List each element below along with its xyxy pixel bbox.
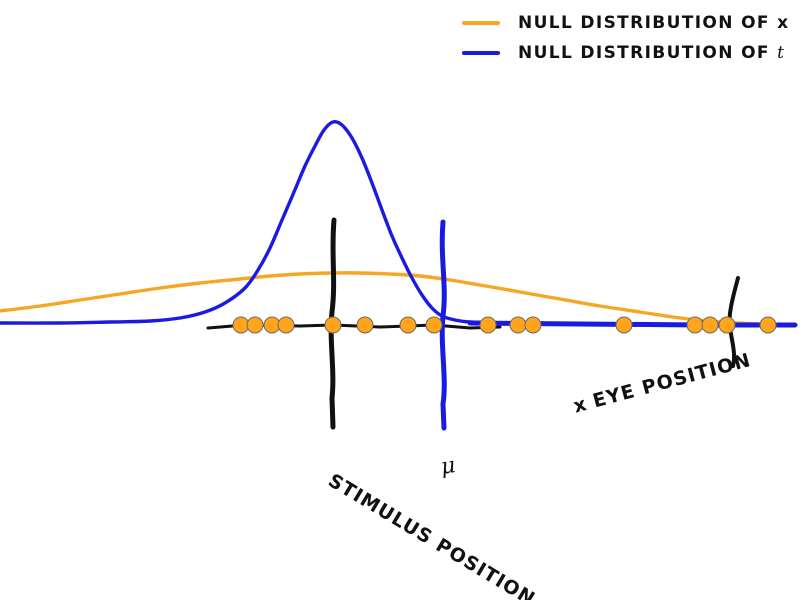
legend-item-null-distribution-t: NULL DISTRIBUTION OF t	[462, 38, 798, 68]
data-point	[616, 317, 632, 333]
legend-item-null-distribution-x: NULL DISTRIBUTION OF x	[462, 8, 798, 38]
legend-symbol-x: x	[777, 13, 788, 33]
mu-tick	[442, 222, 444, 428]
null-distribution-x-curve	[0, 273, 795, 325]
legend-label-null-distribution-t: NULL DISTRIBUTION OF t	[518, 43, 784, 63]
data-point	[357, 317, 373, 333]
legend-line-swatch-orange-icon	[462, 21, 500, 25]
legend-symbol-t: t	[777, 43, 784, 63]
legend-line-swatch-blue-icon	[462, 51, 500, 55]
figure-canvas: NULL DISTRIBUTION OF x NULL DISTRIBUTION…	[0, 0, 800, 600]
data-point	[760, 317, 776, 333]
data-point	[510, 317, 526, 333]
data-point	[400, 317, 416, 333]
data-point	[247, 317, 263, 333]
data-point	[525, 317, 541, 333]
data-point	[702, 317, 718, 333]
legend-label-null-distribution-x: NULL DISTRIBUTION OF x	[518, 13, 788, 33]
data-point	[426, 317, 442, 333]
data-point	[278, 317, 294, 333]
data-point	[687, 317, 703, 333]
data-point	[325, 317, 341, 333]
data-point	[480, 317, 496, 333]
legend: NULL DISTRIBUTION OF x NULL DISTRIBUTION…	[462, 8, 798, 68]
data-point	[719, 317, 735, 333]
